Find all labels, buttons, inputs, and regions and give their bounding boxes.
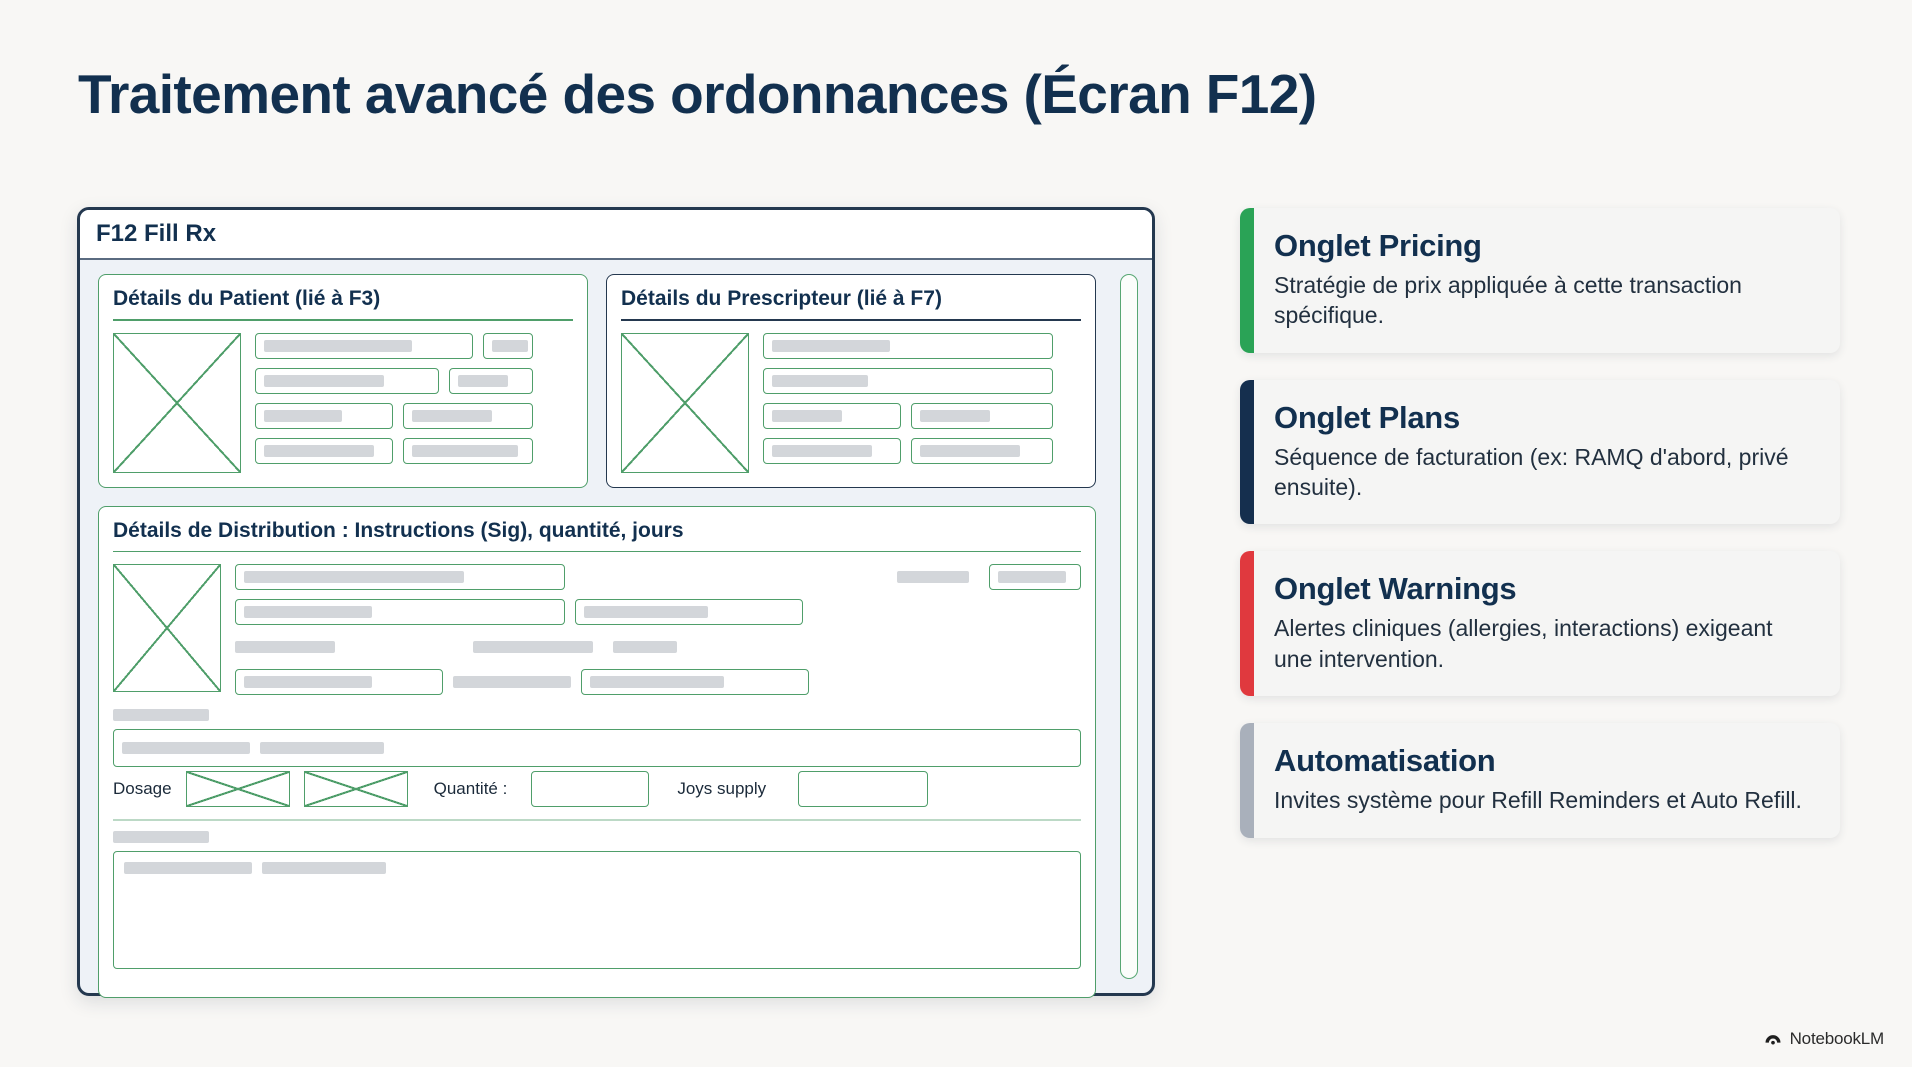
placeholder-bar: [113, 709, 209, 721]
prescriber-field-row: [763, 368, 1081, 394]
distribution-field-row: [235, 564, 1081, 590]
placeholder-bar: [113, 831, 209, 843]
distribution-field[interactable]: [989, 564, 1081, 590]
dosage-quantity-supply-row: Dosage Quantité : Joys supply: [113, 771, 1081, 807]
placeholder-bar: [772, 445, 872, 457]
card-title: Onglet Pricing: [1274, 228, 1814, 264]
patient-field[interactable]: [449, 368, 533, 394]
card-accent-bar: [1240, 380, 1254, 525]
placeholder-bar: [264, 410, 342, 422]
window-body: Détails du Patient (lié à F3): [80, 260, 1152, 993]
placeholder-bar: [124, 862, 252, 874]
distribution-field[interactable]: [235, 599, 565, 625]
placeholder-bar: [998, 571, 1066, 583]
prescriber-panel-heading: Détails du Prescripteur (lié à F7): [621, 287, 1081, 311]
distribution-field-row: [235, 669, 1081, 695]
prescriber-details-panel: Détails du Prescripteur (lié à F7): [606, 274, 1096, 488]
card-description: Séquence de facturation (ex: RAMQ d'abor…: [1274, 442, 1814, 503]
distribution-field-rows: [235, 564, 1081, 695]
placeholder-bar: [244, 676, 372, 688]
placeholder-bar: [590, 676, 724, 688]
placeholder-bar: [244, 571, 464, 583]
placeholder-bar: [584, 606, 708, 618]
prescriber-image-placeholder: [621, 333, 749, 473]
prescriber-field[interactable]: [763, 438, 901, 464]
dosage-placeholder-box: [304, 771, 408, 807]
prescriber-field-row: [763, 333, 1081, 359]
patient-field[interactable]: [483, 333, 533, 359]
days-supply-input[interactable]: [798, 771, 928, 807]
card-automatisation[interactable]: Automatisation Invites système pour Refi…: [1240, 723, 1840, 837]
card-accent-bar: [1240, 723, 1254, 837]
placeholder-bar: [613, 641, 677, 653]
patient-field-row: [255, 333, 573, 359]
card-accent-bar: [1240, 551, 1254, 696]
distribution-panel-heading: Détails de Distribution : Instructions (…: [113, 519, 1081, 543]
card-description: Stratégie de prix appliquée à cette tran…: [1274, 270, 1814, 331]
card-description: Invites système pour Refill Reminders et…: [1274, 785, 1814, 815]
patient-image-placeholder: [113, 333, 241, 473]
distribution-field-row: [235, 599, 1081, 625]
placeholder-bar: [260, 742, 384, 754]
page-title: Traitement avancé des ordonnances (Écran…: [78, 62, 1316, 126]
card-description: Alertes cliniques (allergies, interactio…: [1274, 613, 1814, 674]
window-title: F12 Fill Rx: [96, 220, 216, 248]
notes-textarea[interactable]: [113, 851, 1081, 969]
placeholder-bar: [412, 445, 518, 457]
placeholder-bar: [772, 375, 868, 387]
patient-field[interactable]: [255, 368, 439, 394]
panel-divider: [621, 319, 1081, 321]
quantity-label: Quantité :: [434, 779, 508, 799]
patient-field[interactable]: [255, 438, 393, 464]
quantity-input[interactable]: [531, 771, 649, 807]
patient-field[interactable]: [255, 403, 393, 429]
card-title: Onglet Warnings: [1274, 571, 1814, 607]
patient-field[interactable]: [255, 333, 473, 359]
placeholder-bar: [262, 862, 386, 874]
patient-panel-heading: Détails du Patient (lié à F3): [113, 287, 573, 311]
placeholder-bar: [412, 410, 492, 422]
placeholder-bar: [920, 445, 1020, 457]
patient-field-rows: [255, 333, 573, 473]
prescriber-field[interactable]: [763, 368, 1053, 394]
distribution-details-panel: Détails de Distribution : Instructions (…: [98, 506, 1096, 998]
placeholder-bar: [473, 641, 593, 653]
card-onglet-plans[interactable]: Onglet Plans Séquence de facturation (ex…: [1240, 380, 1840, 525]
placeholder-bar: [897, 571, 969, 583]
tabs-info-cards: Onglet Pricing Stratégie de prix appliqu…: [1240, 208, 1840, 865]
placeholder-bar: [244, 606, 372, 618]
patient-field[interactable]: [403, 438, 533, 464]
footer-label: NotebookLM: [1790, 1029, 1884, 1049]
prescriber-field-row: [763, 403, 1081, 429]
placeholder-bar: [235, 641, 335, 653]
placeholder-bar: [264, 375, 384, 387]
placeholder-bar: [492, 340, 528, 352]
card-accent-bar: [1240, 208, 1254, 353]
card-onglet-warnings[interactable]: Onglet Warnings Alertes cliniques (aller…: [1240, 551, 1840, 696]
placeholder-bar: [458, 375, 508, 387]
distribution-field[interactable]: [575, 599, 803, 625]
panel-divider: [113, 319, 573, 321]
card-title: Onglet Plans: [1274, 400, 1814, 436]
patient-field-row: [255, 403, 573, 429]
placeholder-bar: [122, 742, 250, 754]
patient-details-panel: Détails du Patient (lié à F3): [98, 274, 588, 488]
footer-branding: NotebookLM: [1763, 1026, 1884, 1051]
card-title: Automatisation: [1274, 743, 1814, 779]
patient-field-row: [255, 368, 573, 394]
window-titlebar: F12 Fill Rx: [80, 210, 1152, 260]
distribution-field[interactable]: [581, 669, 809, 695]
placeholder-bar: [264, 340, 412, 352]
dosage-label: Dosage: [113, 779, 172, 799]
prescriber-field-rows: [763, 333, 1081, 473]
placeholder-bar: [264, 445, 374, 457]
section-divider: [113, 819, 1081, 820]
prescriber-field[interactable]: [911, 438, 1053, 464]
placeholder-bar: [920, 410, 990, 422]
placeholder-bar: [772, 410, 842, 422]
sig-instruction-field[interactable]: [235, 564, 565, 590]
days-supply-label: Joys supply: [677, 779, 766, 799]
patient-field[interactable]: [403, 403, 533, 429]
distribution-top-block: [113, 564, 1081, 695]
placeholder-bar: [772, 340, 890, 352]
f12-wireframe-window: F12 Fill Rx Détails du Patient (lié à F3…: [77, 207, 1155, 996]
prescriber-field[interactable]: [763, 403, 901, 429]
notebooklm-logo-icon: [1763, 1026, 1783, 1051]
distribution-loose-bar-row: [235, 634, 1081, 660]
panel-divider: [113, 551, 1081, 553]
dosage-placeholder-box: [186, 771, 290, 807]
top-panels-row: Détails du Patient (lié à F3): [98, 274, 1096, 488]
sig-wide-field[interactable]: [113, 729, 1081, 767]
prescriber-field[interactable]: [763, 333, 1053, 359]
distribution-image-placeholder: [113, 564, 221, 692]
distribution-field[interactable]: [235, 669, 443, 695]
prescriber-field[interactable]: [911, 403, 1053, 429]
prescriber-field-row: [763, 438, 1081, 464]
vertical-scrollbar[interactable]: [1120, 274, 1138, 979]
card-onglet-pricing[interactable]: Onglet Pricing Stratégie de prix appliqu…: [1240, 208, 1840, 353]
placeholder-bar: [453, 676, 571, 688]
patient-field-row: [255, 438, 573, 464]
